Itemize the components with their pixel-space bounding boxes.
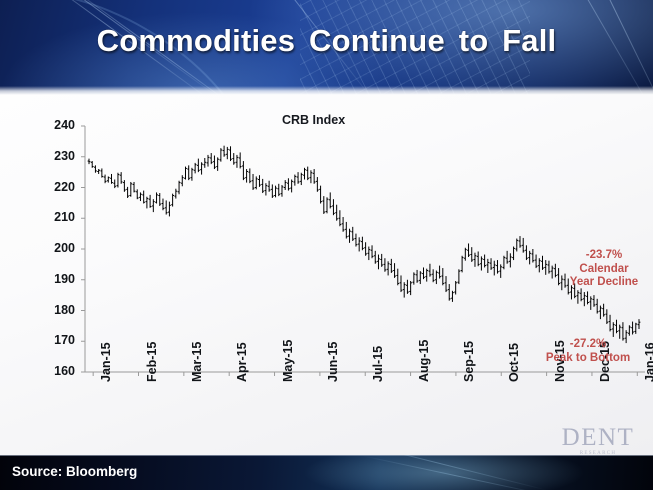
ohlc-bar <box>467 243 470 257</box>
ohlc-bar <box>145 197 148 209</box>
ohlc-bar <box>210 153 213 164</box>
ohlc-bar <box>187 165 190 180</box>
chart-container: CRB Index 160170180190200210220230240 Ja… <box>0 95 653 455</box>
ohlc-bar <box>596 299 599 314</box>
ohlc-bar <box>631 322 634 335</box>
ohlc-bar <box>486 259 489 273</box>
ohlc-bar <box>409 281 412 295</box>
ohlc-bar <box>638 319 641 329</box>
ohlc-bar <box>390 259 393 273</box>
ohlc-bar <box>435 271 438 285</box>
ohlc-bar <box>129 182 132 197</box>
ohlc-bar <box>91 161 94 168</box>
slide-header: Commodities Continue to Fall <box>0 0 653 95</box>
page-title: Commodities Continue to Fall <box>0 23 653 59</box>
slide-footer: Source: Bloomberg <box>0 455 653 490</box>
ohlc-bar <box>306 167 309 181</box>
ohlc-bar <box>168 202 171 217</box>
ohlc-bar <box>503 256 506 270</box>
ohlc-bar <box>628 325 631 335</box>
y-axis-tick-label: 190 <box>41 272 75 286</box>
ohlc-bar <box>123 180 126 192</box>
ohlc-bar <box>335 205 338 221</box>
ohlc-bar <box>506 251 509 264</box>
ohlc-bar <box>422 267 425 279</box>
y-axis-tick-label: 210 <box>41 210 75 224</box>
ohlc-bar <box>445 276 448 292</box>
ohlc-bar <box>203 158 206 168</box>
ohlc-bar <box>586 291 589 304</box>
source-label: Source: Bloomberg <box>12 464 137 479</box>
ohlc-bar <box>126 187 129 198</box>
ohlc-bar <box>255 176 258 189</box>
ohlc-bar <box>541 256 544 270</box>
y-axis-tick-label: 230 <box>41 149 75 163</box>
ohlc-bar <box>239 152 242 168</box>
annotation-peak-to-bottom: -27.2%Peak to Bottom <box>524 338 652 365</box>
x-axis-tick-label: Mar-15 <box>190 342 204 382</box>
ohlc-bar <box>174 189 177 199</box>
ohlc-bar <box>326 197 329 213</box>
ohlc-bar <box>490 258 493 270</box>
ohlc-bar <box>213 156 216 170</box>
ohlc-bar <box>191 168 194 181</box>
ohlc-bar <box>313 169 316 184</box>
ohlc-bar <box>416 270 419 283</box>
ohlc-bar <box>152 199 155 212</box>
ohlc-bar <box>589 296 592 310</box>
ohlc-bar <box>538 258 541 272</box>
ohlc-bar <box>338 210 341 226</box>
ohlc-bar <box>149 195 152 208</box>
ohlc-bar <box>113 180 116 189</box>
ohlc-bar <box>223 146 226 157</box>
ohlc-bar <box>142 191 145 204</box>
ohlc-bar <box>104 175 107 184</box>
ohlc-bar <box>197 159 200 173</box>
ohlc-bar <box>236 155 239 168</box>
ohlc-bar <box>470 247 473 262</box>
ohlc-bar <box>293 175 296 186</box>
ohlc-bar <box>171 194 174 207</box>
ohlc-bar <box>583 292 586 306</box>
ohlc-bar <box>265 183 268 195</box>
ohlc-bar <box>226 147 229 159</box>
ohlc-bar <box>374 251 377 264</box>
ohlc-bar <box>512 247 515 261</box>
ohlc-bar <box>448 284 451 301</box>
ohlc-bar <box>219 148 222 162</box>
x-axis-tick-label: Jul-15 <box>371 346 385 382</box>
ohlc-bar <box>281 185 284 197</box>
ohlc-bar <box>580 288 583 301</box>
ohlc-bar <box>200 162 203 174</box>
ohlc-bar <box>155 192 158 203</box>
ohlc-bar <box>162 199 165 211</box>
x-axis-tick-label: Aug-15 <box>417 340 431 382</box>
ohlc-bar <box>181 175 184 186</box>
ohlc-bars <box>88 146 641 343</box>
ohlc-bar <box>403 282 406 297</box>
ohlc-bar <box>535 255 538 269</box>
ohlc-bar <box>322 196 325 214</box>
y-axis-tick-label: 200 <box>41 241 75 255</box>
ohlc-bar <box>615 320 618 334</box>
x-axis-tick-label: Apr-15 <box>235 342 249 382</box>
ohlc-bar <box>329 192 332 208</box>
ohlc-bar <box>612 322 615 337</box>
ohlc-bar <box>284 180 287 190</box>
header-fade <box>0 86 653 95</box>
annotation-calendar-year-decline: -23.7%CalendarYear Decline <box>556 249 652 290</box>
footer-top-rule <box>0 455 653 456</box>
ohlc-bar <box>158 193 161 206</box>
x-axis-tick-label: Oct-15 <box>507 343 521 382</box>
x-axis-tick-label: Feb-15 <box>145 342 159 382</box>
ohlc-bar <box>429 264 432 277</box>
ohlc-bar <box>618 325 621 339</box>
ohlc-bar <box>377 255 380 270</box>
ohlc-bar <box>605 309 608 324</box>
ohlc-bar <box>345 222 348 239</box>
ohlc-bar <box>316 177 319 192</box>
ohlc-bar <box>371 245 374 258</box>
ohlc-bar <box>519 236 522 248</box>
ohlc-bar <box>477 251 480 266</box>
slide: Commodities Continue to Fall CRB Index 1… <box>0 0 653 490</box>
ohlc-bar <box>528 251 531 265</box>
ohlc-bar <box>319 186 322 204</box>
ohlc-bar <box>117 173 120 188</box>
ohlc-bar <box>261 179 264 193</box>
ohlc-bar <box>438 266 441 279</box>
y-axis-tick-label: 170 <box>41 333 75 347</box>
ohlc-bar <box>406 280 409 294</box>
ohlc-bar <box>287 178 290 190</box>
ohlc-bar <box>268 181 271 192</box>
ohlc-bar <box>245 169 248 183</box>
logo-wordmark: DENT <box>548 425 648 450</box>
ohlc-bar <box>178 181 181 195</box>
y-axis-tick-label: 160 <box>41 364 75 378</box>
ohlc-bar <box>400 275 403 292</box>
ohlc-bar <box>120 172 123 184</box>
ohlc-bar <box>380 254 383 267</box>
ohlc-bar <box>367 247 370 261</box>
ohlc-bar <box>425 269 428 282</box>
x-axis-tick-label: May-15 <box>281 340 295 382</box>
ohlc-bar <box>136 189 139 199</box>
ohlc-bar <box>451 291 454 302</box>
ohlc-bar <box>396 269 399 286</box>
y-axis-tick-label: 240 <box>41 118 75 132</box>
ohlc-bar <box>419 271 422 284</box>
y-axis-tick-label: 220 <box>41 180 75 194</box>
ohlc-bar <box>496 260 499 274</box>
ohlc-bar <box>531 249 534 263</box>
ohlc-bar <box>480 256 483 270</box>
ohlc-bar <box>165 200 168 214</box>
ohlc-bar <box>432 269 435 282</box>
ohlc-bar <box>364 242 367 256</box>
ohlc-bar <box>332 199 335 215</box>
ohlc-bar <box>232 153 235 165</box>
ohlc-bar <box>599 306 602 320</box>
ohlc-bar <box>107 176 110 182</box>
ohlc-bar <box>464 248 467 261</box>
ohlc-bar <box>100 168 103 177</box>
ohlc-bar <box>361 237 364 251</box>
ohlc-bar <box>97 169 100 174</box>
ohlc-bar <box>303 168 306 180</box>
ohlc-bar <box>412 272 415 284</box>
ohlc-bar <box>461 256 464 273</box>
ohlc-bar <box>94 165 97 172</box>
ohlc-bar <box>248 168 251 183</box>
ohlc-bar <box>194 163 197 173</box>
dent-research-logo: DENT RESEARCH <box>548 425 648 459</box>
ohlc-bar <box>348 229 351 243</box>
ohlc-bar <box>441 268 444 285</box>
ohlc-bar <box>252 174 255 190</box>
ohlc-bar <box>551 266 554 279</box>
ohlc-bar <box>474 253 477 267</box>
ohlc-bar <box>515 239 518 252</box>
ohlc-bar <box>525 245 528 260</box>
y-axis-tick-label: 180 <box>41 303 75 317</box>
ohlc-bar <box>216 157 219 171</box>
ohlc-bar <box>229 146 232 161</box>
ohlc-bar <box>593 295 596 307</box>
ohlc-bar <box>609 315 612 332</box>
ohlc-bar <box>493 261 496 276</box>
ohlc-bar <box>277 184 280 196</box>
footer-streak-2 <box>362 455 548 490</box>
ohlc-bar <box>290 180 293 193</box>
ohlc-bar <box>351 227 354 241</box>
ohlc-bar <box>300 173 303 185</box>
ohlc-bar <box>139 192 142 201</box>
ohlc-bar <box>242 161 245 180</box>
ohlc-bar <box>522 238 525 253</box>
ohlc-bar <box>544 260 547 275</box>
ohlc-bar <box>110 174 113 184</box>
ohlc-bar <box>342 217 345 232</box>
ohlc-bar <box>355 234 358 247</box>
ohlc-bar <box>297 172 300 184</box>
ohlc-bar <box>387 261 390 275</box>
ohlc-bar <box>509 253 512 267</box>
ohlc-bar <box>602 304 605 317</box>
ohlc-bar <box>133 182 136 192</box>
ohlc-bar <box>483 255 486 268</box>
ohlc-bar <box>274 186 277 198</box>
ohlc-bar <box>184 167 187 180</box>
ohlc-bar <box>548 261 551 274</box>
ohlc-bar <box>358 237 361 251</box>
x-axis-tick-label: Jan-15 <box>99 342 113 382</box>
ohlc-bar <box>634 323 637 334</box>
ohlc-bar <box>271 184 274 198</box>
ohlc-bar <box>207 155 210 167</box>
ohlc-bar <box>258 175 261 187</box>
ohlc-bar <box>393 263 396 278</box>
x-axis-tick-label: Jun-15 <box>326 342 340 382</box>
ohlc-bar <box>454 281 457 295</box>
ohlc-bar <box>88 159 91 165</box>
ohlc-bar <box>499 264 502 278</box>
ohlc-bar <box>310 170 313 183</box>
x-axis-tick-label: Sep-15 <box>462 341 476 382</box>
ohlc-bar <box>576 290 579 304</box>
ohlc-bar <box>384 258 387 272</box>
ohlc-bar <box>457 269 460 284</box>
